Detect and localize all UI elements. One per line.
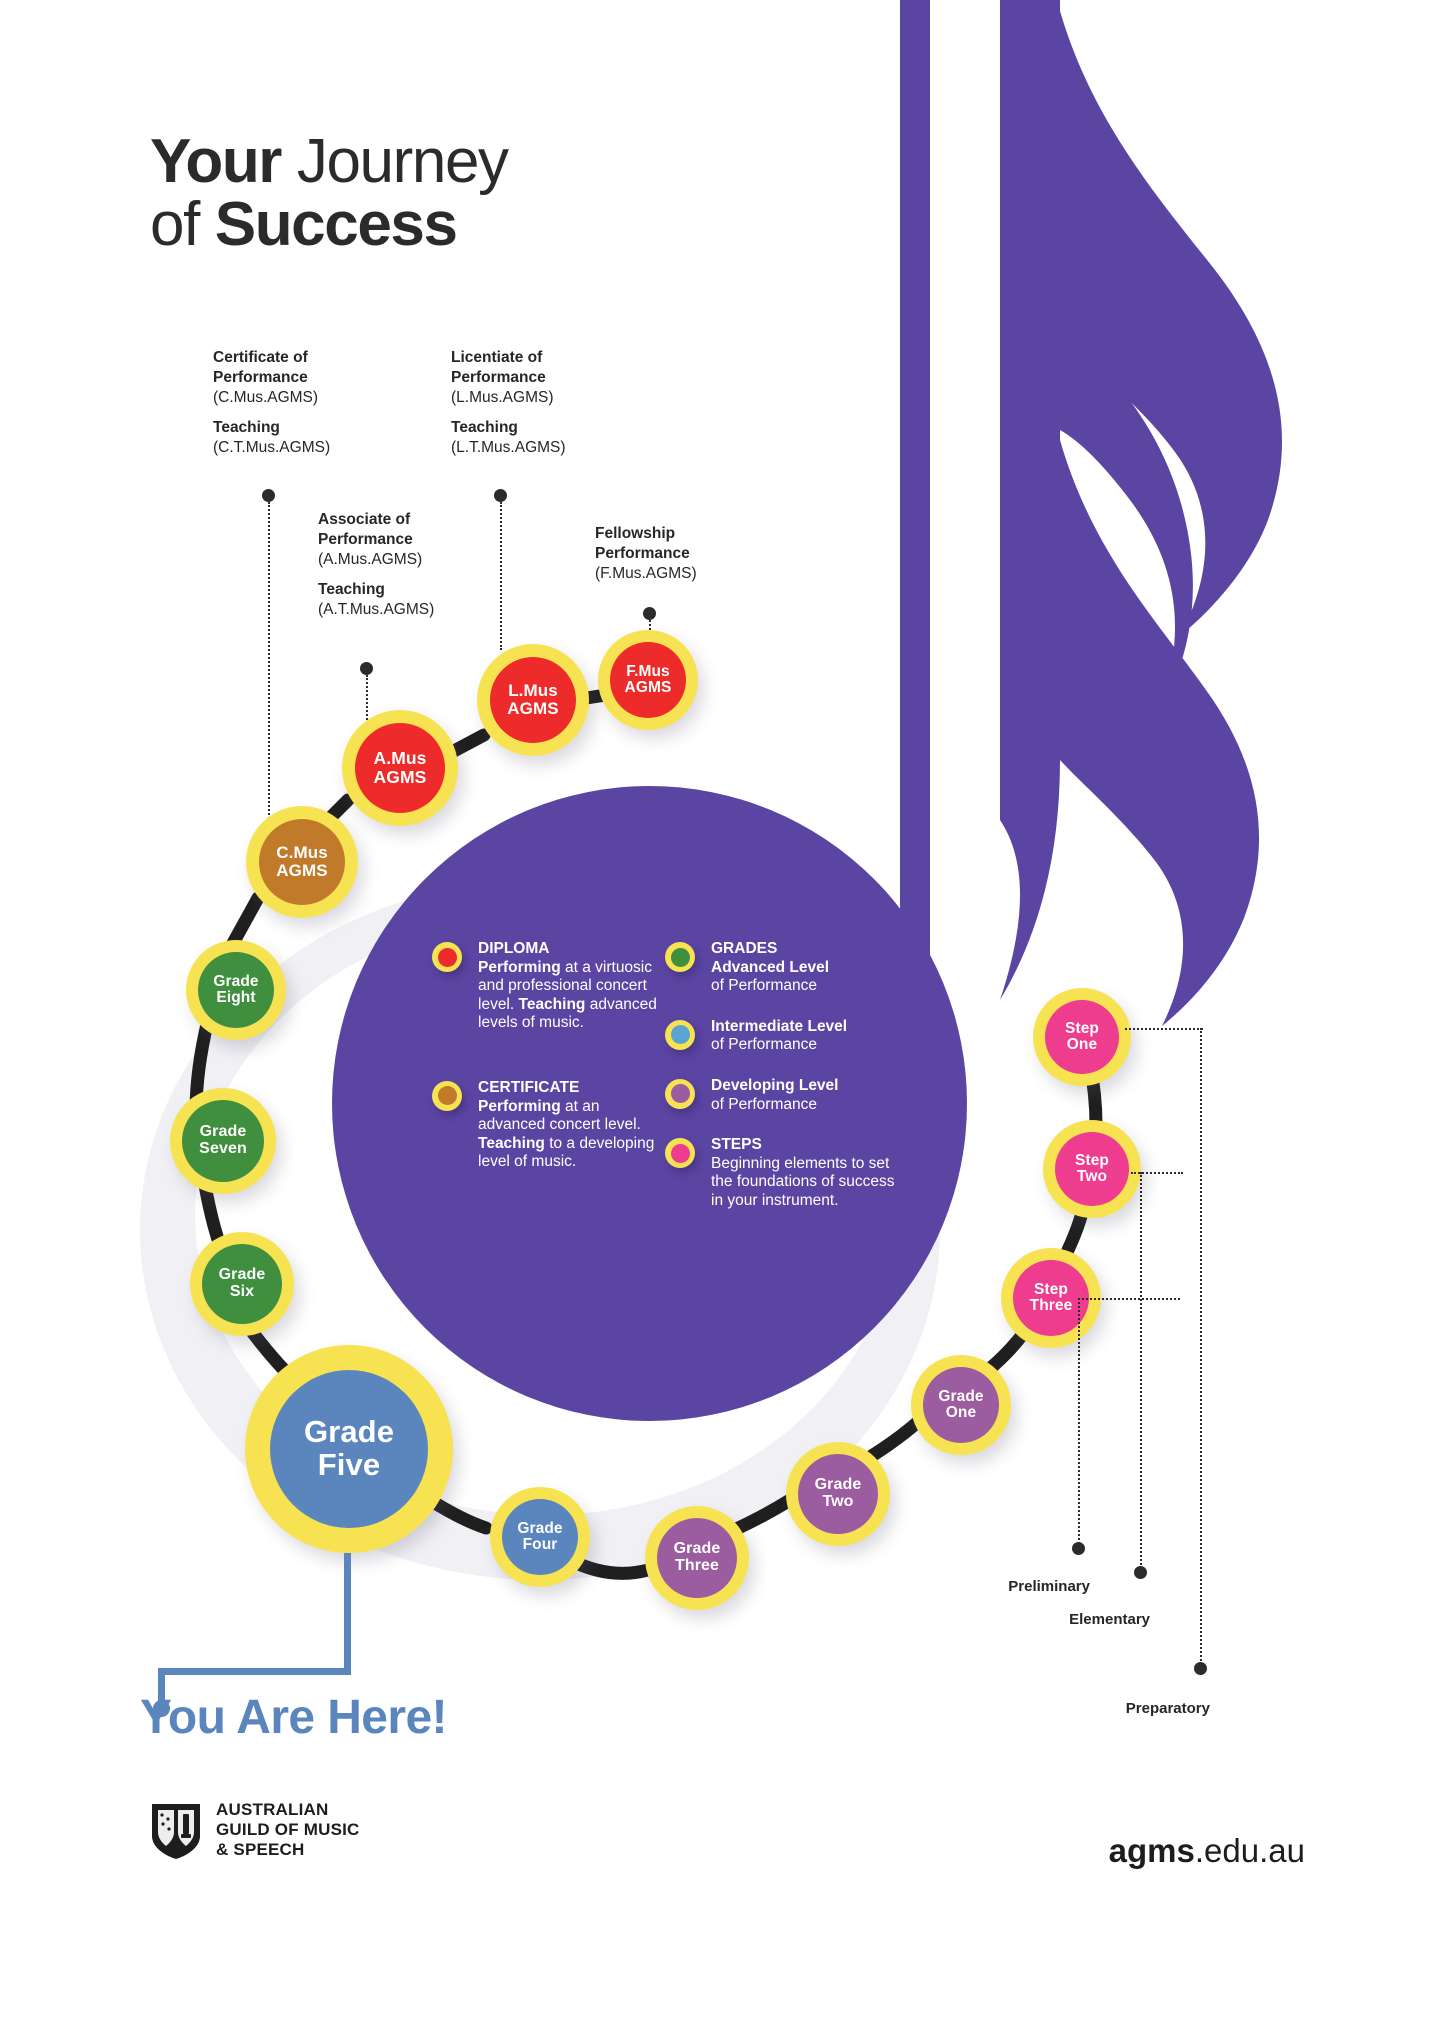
logo-line-2: GUILD OF MUSIC [216, 1820, 360, 1840]
brand-logo-text: AUSTRALIAN GUILD OF MUSIC & SPEECH [216, 1800, 360, 1859]
you-are-here-line-vertical [344, 1553, 351, 1675]
intermediate-bullet-icon [665, 1020, 695, 1050]
node-grade-five[interactable]: GradeFive [245, 1345, 453, 1553]
leader-dot-preliminary [1072, 1542, 1085, 1555]
node-amus-label: A.MusAGMS [355, 723, 445, 813]
label-preparatory: Preparatory [1060, 1700, 1210, 1717]
certificate-bullet-icon [432, 1081, 462, 1111]
leader-h-preliminary [1082, 1298, 1180, 1300]
node-grade-one-label: GradeOne [923, 1367, 999, 1443]
legend-body: of Performance [711, 1096, 817, 1113]
legend-body: of Performance [711, 977, 817, 994]
node-grade-six-label: GradeSix [202, 1244, 282, 1324]
leader-dot-elementary [1134, 1566, 1147, 1579]
legend-item-steps: STEPS Beginning elements to set the foun… [665, 1136, 905, 1210]
legend-column-right: GRADES Advanced Level of Performance Int… [665, 940, 905, 1231]
legend-text-diploma: DIPLOMA Performing at a virtuosic and pr… [478, 940, 662, 1031]
legend-item-intermediate: Intermediate Level of Performance [665, 1018, 905, 1055]
logo-line-3: & SPEECH [216, 1840, 360, 1860]
leader-dot-preparatory [1194, 1662, 1207, 1675]
you-are-here-line-horizontal [158, 1668, 351, 1675]
legend-heading: STEPS [711, 1136, 905, 1155]
node-grade-eight-label: GradeEight [198, 952, 274, 1028]
node-fmus-label: F.MusAGMS [610, 642, 686, 718]
diploma-bullet-icon [432, 942, 462, 972]
poster-canvas: Your Journey of Success Certificate of P… [0, 0, 1445, 2044]
leader-h-preparatory [1125, 1028, 1203, 1030]
node-grade-three[interactable]: GradeThree [645, 1506, 749, 1610]
legend-item-developing: Developing Level of Performance [665, 1077, 905, 1114]
legend-subheading: Advanced Level [711, 959, 905, 978]
node-grade-two-label: GradeTwo [798, 1454, 878, 1534]
label-elementary: Elementary [1000, 1611, 1150, 1628]
leader-line-preparatory [1200, 1028, 1202, 1668]
leader-line-preliminary [1078, 1298, 1080, 1548]
node-lmus[interactable]: L.MusAGMS [477, 644, 589, 756]
legend-body: Performing at a virtuosic and profession… [478, 959, 657, 1032]
node-cmus[interactable]: C.MusAGMS [246, 806, 358, 918]
node-lmus-label: L.MusAGMS [490, 657, 576, 743]
label-preliminary: Preliminary [940, 1578, 1090, 1595]
grades-bullet-icon [665, 942, 695, 972]
you-are-here-text: You Are Here! [140, 1690, 447, 1745]
legend-text-developing: Developing Level of Performance [711, 1077, 905, 1113]
node-step-one[interactable]: StepOne [1033, 988, 1131, 1086]
legend-column-left: DIPLOMA Performing at a virtuosic and pr… [432, 940, 662, 1192]
legend-text-certificate: CERTIFICATE Performing at an advanced co… [478, 1079, 662, 1170]
legend-body: of Performance [711, 1036, 817, 1053]
node-grade-four[interactable]: GradeFour [490, 1487, 590, 1587]
node-step-two-label: StepTwo [1055, 1132, 1129, 1206]
node-grade-five-label: GradeFive [270, 1370, 428, 1528]
legend-item-diploma: DIPLOMA Performing at a virtuosic and pr… [432, 940, 662, 1033]
node-grade-four-label: GradeFour [502, 1499, 578, 1575]
node-step-one-label: StepOne [1045, 1000, 1119, 1074]
legend-heading: DIPLOMA [478, 940, 662, 959]
developing-bullet-icon [665, 1079, 695, 1109]
logo-line-1: AUSTRALIAN [216, 1800, 360, 1820]
node-grade-six[interactable]: GradeSix [190, 1232, 294, 1336]
shield-icon [150, 1800, 202, 1860]
legend-heading: GRADES [711, 940, 905, 959]
node-grade-eight[interactable]: GradeEight [186, 940, 286, 1040]
brand-logo: AUSTRALIAN GUILD OF MUSIC & SPEECH [150, 1800, 360, 1860]
node-cmus-label: C.MusAGMS [259, 819, 345, 905]
legend-text-steps: STEPS Beginning elements to set the foun… [711, 1136, 905, 1209]
leader-h-elementary [1131, 1172, 1183, 1174]
node-step-two[interactable]: StepTwo [1043, 1120, 1141, 1218]
website-url[interactable]: agms.edu.au [1109, 1832, 1305, 1870]
legend-text-intermediate: Intermediate Level of Performance [711, 1018, 905, 1054]
legend-body: Performing at an advanced concert level.… [478, 1098, 654, 1171]
node-grade-three-label: GradeThree [657, 1518, 737, 1598]
legend-body: Beginning elements to set the foundation… [711, 1155, 895, 1209]
legend-heading: CERTIFICATE [478, 1079, 662, 1098]
leader-line-elementary [1140, 1172, 1142, 1572]
legend-subheading: Intermediate Level [711, 1018, 905, 1037]
legend-item-grades: GRADES Advanced Level of Performance [665, 940, 905, 996]
steps-bullet-icon [665, 1138, 695, 1168]
node-grade-seven[interactable]: GradeSeven [170, 1088, 276, 1194]
legend-text-grades: GRADES Advanced Level of Performance [711, 940, 905, 994]
node-grade-one[interactable]: GradeOne [911, 1355, 1011, 1455]
node-amus[interactable]: A.MusAGMS [342, 710, 458, 826]
legend-item-certificate: CERTIFICATE Performing at an advanced co… [432, 1079, 662, 1172]
node-fmus[interactable]: F.MusAGMS [598, 630, 698, 730]
node-grade-two[interactable]: GradeTwo [786, 1442, 890, 1546]
legend-subheading: Developing Level [711, 1077, 905, 1096]
node-grade-seven-label: GradeSeven [182, 1100, 264, 1182]
